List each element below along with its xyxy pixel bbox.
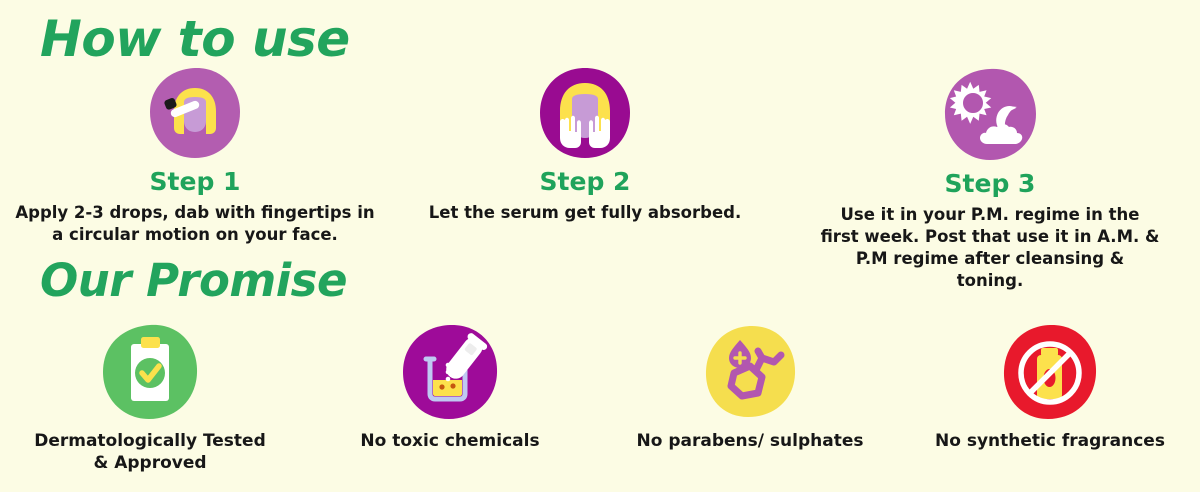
step-description: Let the serum get fully absorbed. xyxy=(429,202,741,224)
hands-on-face-icon xyxy=(538,66,632,160)
step-description: Apply 2-3 drops, dab with fingertips in … xyxy=(15,202,375,247)
sun-and-moon-icon xyxy=(942,66,1038,162)
promise-label: No synthetic fragrances xyxy=(935,430,1165,452)
step-description: Use it in your P.M. regime in the first … xyxy=(820,204,1160,293)
promise-card-no-toxic-chemicals: No toxic chemicals xyxy=(300,322,600,452)
step-title: Step 2 xyxy=(540,168,631,196)
promise-label: No toxic chemicals xyxy=(360,430,539,452)
infographic-canvas: How to use Step 1 Apply 2-3 drops, dab xyxy=(0,0,1200,492)
promise-card-no-synthetic-fragrances: No synthetic fragrances xyxy=(900,322,1200,452)
step-title: Step 1 xyxy=(150,168,241,196)
dropper-on-face-icon xyxy=(148,66,242,160)
test-tube-beaker-icon xyxy=(400,322,500,422)
promise-card-no-parabens-sulphates: No parabens/ sulphates xyxy=(600,322,900,452)
molecule-droplet-icon xyxy=(700,322,800,422)
step-card-3: Step 3 Use it in your P.M. regime in the… xyxy=(780,66,1200,293)
our-promise-items: Dermatologically Tested & Approved xyxy=(0,322,1200,474)
our-promise-heading: Our Promise xyxy=(40,258,347,303)
no-fragrance-bottle-icon xyxy=(1000,322,1100,422)
promise-label: No parabens/ sulphates xyxy=(637,430,864,452)
promise-card-dermatologically-tested: Dermatologically Tested & Approved xyxy=(0,322,300,474)
step-card-1: Step 1 Apply 2-3 drops, dab with fingert… xyxy=(0,66,390,246)
step-card-2: Step 2 Let the serum get fully absorbed. xyxy=(390,66,780,224)
how-to-use-heading: How to use xyxy=(40,14,350,64)
promise-label: Dermatologically Tested & Approved xyxy=(25,430,275,474)
clipboard-check-icon xyxy=(100,322,200,422)
step-title: Step 3 xyxy=(945,170,1036,198)
